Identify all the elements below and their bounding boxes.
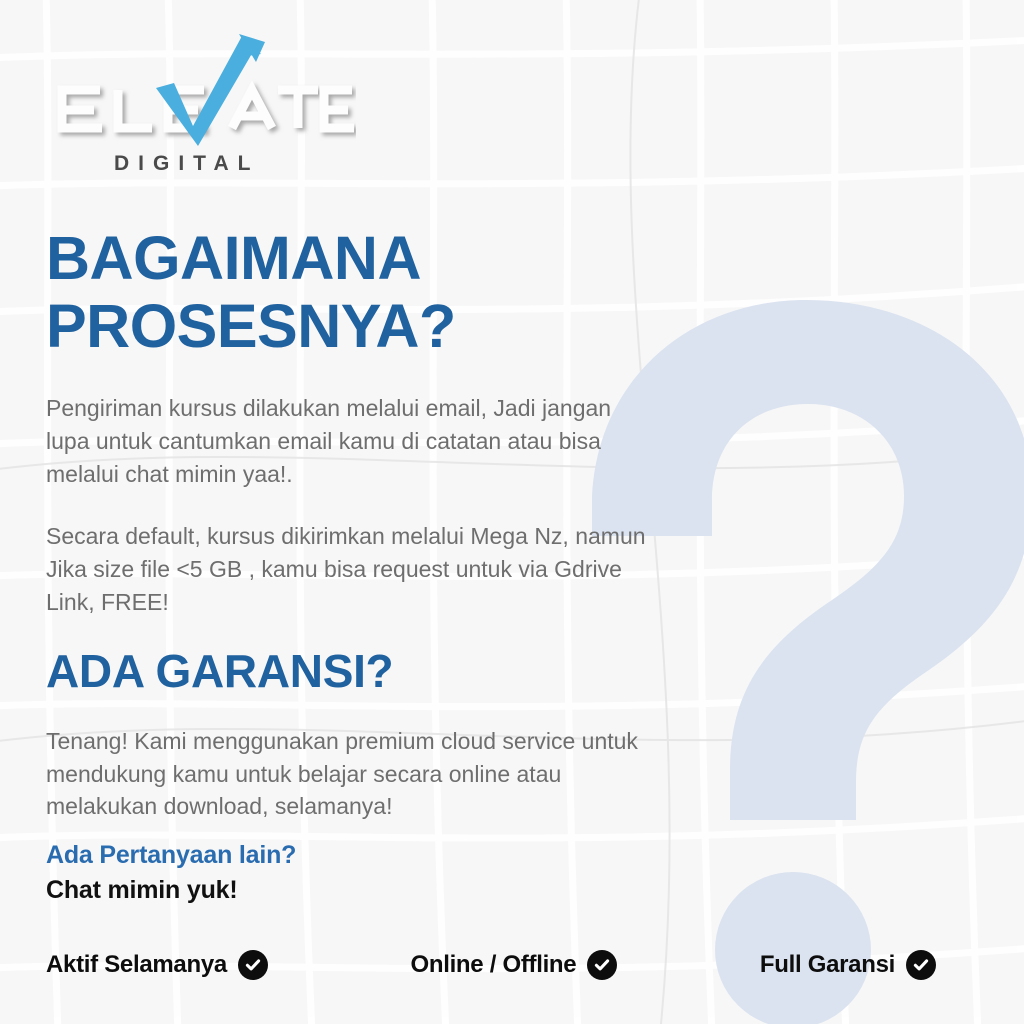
content-column: BAGAIMANA PROSESNYA? Pengiriman kursus d… (46, 225, 646, 823)
page-title-line1: BAGAIMANA (46, 224, 421, 292)
check-circle-icon (906, 950, 936, 980)
section-title-warranty: ADA GARANSI? (46, 646, 646, 697)
brand-logo: DIGITAL (56, 28, 386, 178)
cta-block: Ada Pertanyaan lain? Chat mimin yuk! (46, 840, 296, 907)
check-circle-icon (238, 950, 268, 980)
paragraph-delivery: Pengiriman kursus dilakukan melalui emai… (46, 392, 646, 490)
cta-question: Ada Pertanyaan lain? (46, 840, 296, 871)
feature-badge: Aktif Selamanya (46, 950, 268, 980)
feature-badge-label: Aktif Selamanya (46, 951, 227, 979)
brand-logo-subtitle: DIGITAL (114, 152, 259, 176)
promo-poster: DIGITAL BAGAIMANA PROSESNYA? Pengiriman … (0, 0, 1024, 1024)
paragraph-warranty: Tenang! Kami menggunakan premium cloud s… (46, 725, 646, 823)
feature-badge-label: Online / Offline (410, 951, 576, 979)
feature-badge: Online / Offline (410, 950, 617, 980)
cta-chat-action[interactable]: Chat mimin yuk! (46, 874, 296, 907)
feature-badge-row: Aktif Selamanya Online / Offline Full Ga… (46, 950, 936, 980)
elevate-logo-icon (56, 28, 356, 153)
page-title-line2: PROSESNYA? (46, 292, 456, 360)
feature-badge: Full Garansi (760, 950, 936, 980)
page-title: BAGAIMANA PROSESNYA? (46, 225, 646, 360)
check-circle-icon (587, 950, 617, 980)
feature-badge-label: Full Garansi (760, 951, 895, 979)
paragraph-filehosting: Secara default, kursus dikirimkan melalu… (46, 520, 646, 618)
